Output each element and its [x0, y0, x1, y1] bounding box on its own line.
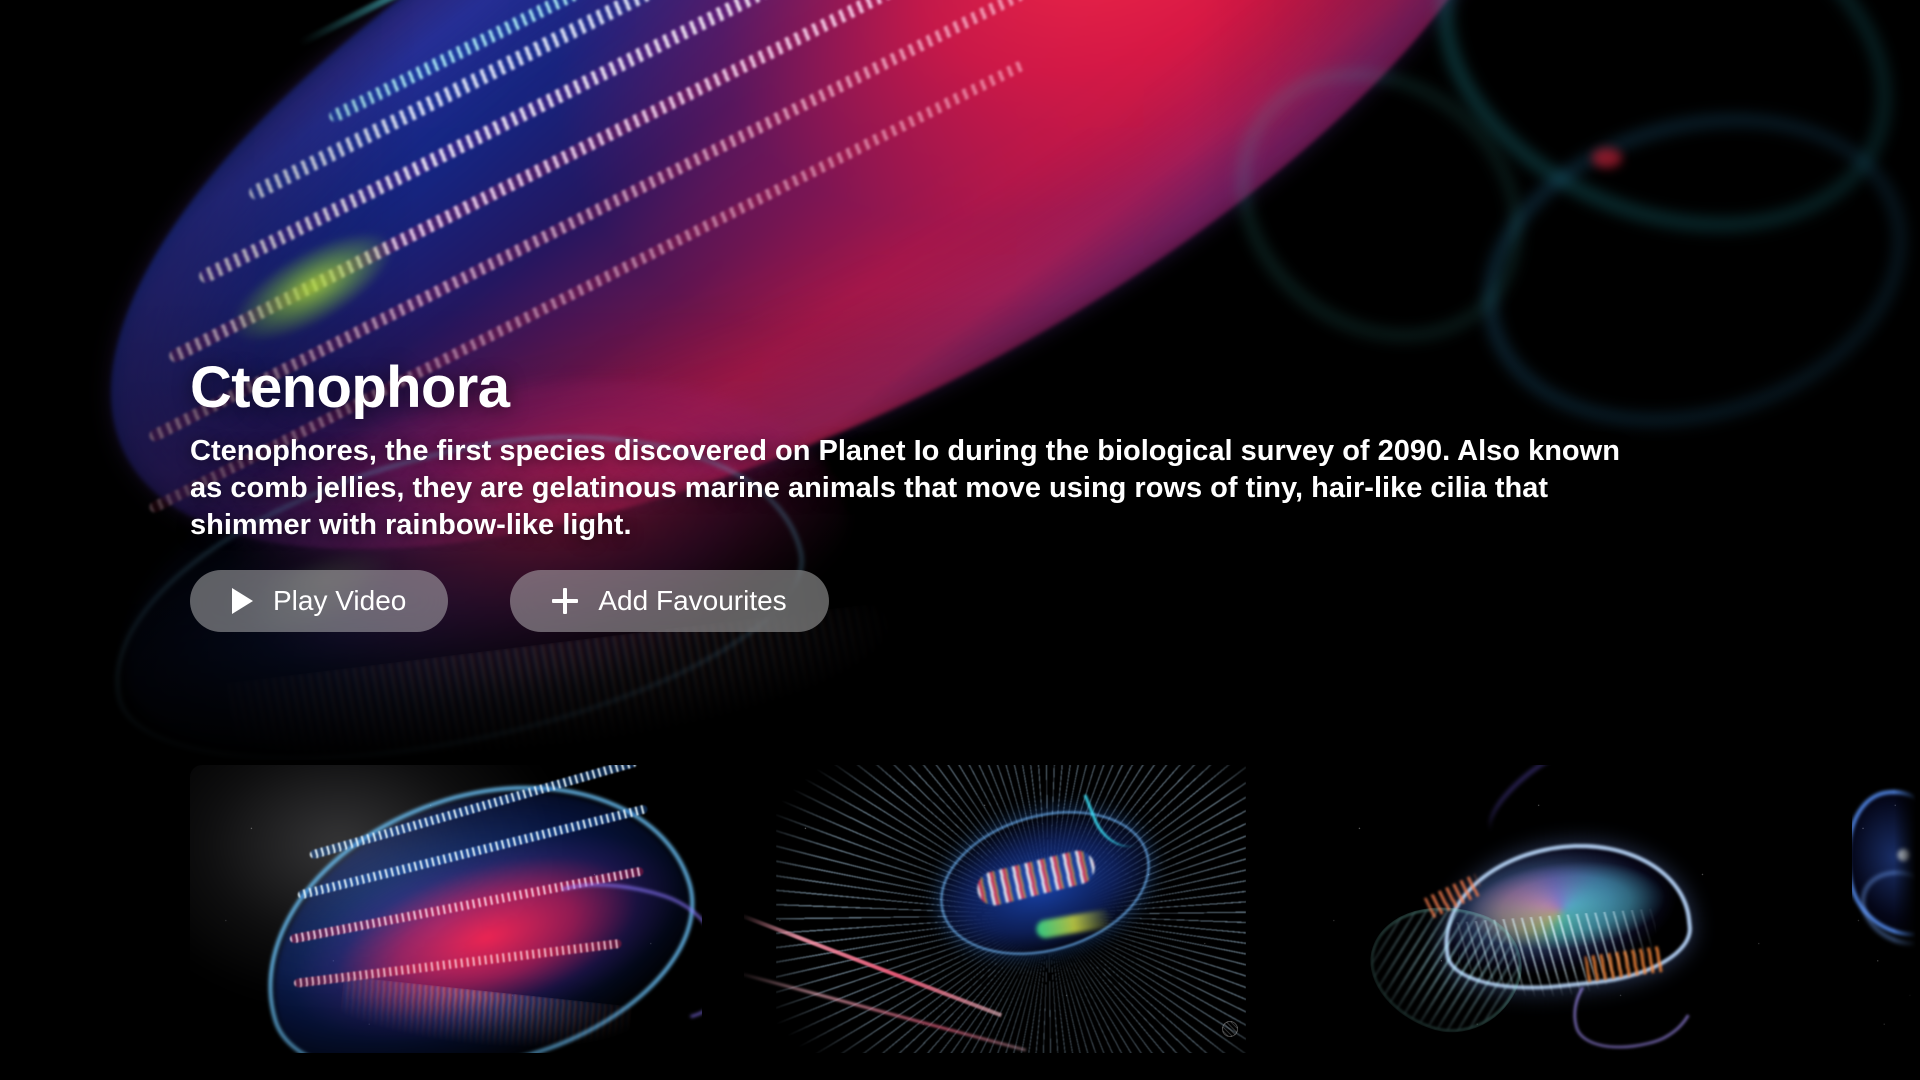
add-favourites-button[interactable]: Add Favourites	[510, 570, 828, 632]
thumbnail-track[interactable]	[190, 765, 1920, 1053]
thumbnail-rail[interactable]	[0, 760, 1920, 1080]
hero-copy: Ctenophora Ctenophores, the first specie…	[190, 358, 1660, 632]
thumbnail-image-2	[744, 765, 1256, 1053]
bright-spark-card4	[1898, 849, 1910, 861]
hero-section: Ctenophora Ctenophores, the first specie…	[0, 0, 1920, 760]
plus-icon	[552, 588, 578, 614]
thumbnail-image-1	[190, 765, 702, 1053]
play-icon	[232, 588, 253, 614]
hero-description: Ctenophores, the first species discovere…	[190, 433, 1630, 544]
watermark-icon-card2	[1222, 1021, 1238, 1037]
app-root: Ctenophora Ctenophores, the first specie…	[0, 0, 1920, 1080]
page-title: Ctenophora	[190, 358, 1660, 419]
thumbnail-image-4	[1852, 765, 1920, 1053]
hero-action-buttons: Play Video Add Favourites	[190, 570, 1660, 632]
thumbnail-image-3	[1298, 765, 1810, 1053]
thumbnail-card-1[interactable]	[190, 765, 702, 1053]
thumbnail-card-2[interactable]	[744, 765, 1256, 1053]
play-video-button[interactable]: Play Video	[190, 570, 448, 632]
thumbnail-card-4[interactable]	[1852, 765, 1920, 1053]
play-video-label: Play Video	[273, 587, 406, 615]
add-favourites-label: Add Favourites	[598, 587, 786, 615]
bottom-bar	[0, 1054, 1920, 1080]
thumbnail-card-3[interactable]	[1298, 765, 1810, 1053]
